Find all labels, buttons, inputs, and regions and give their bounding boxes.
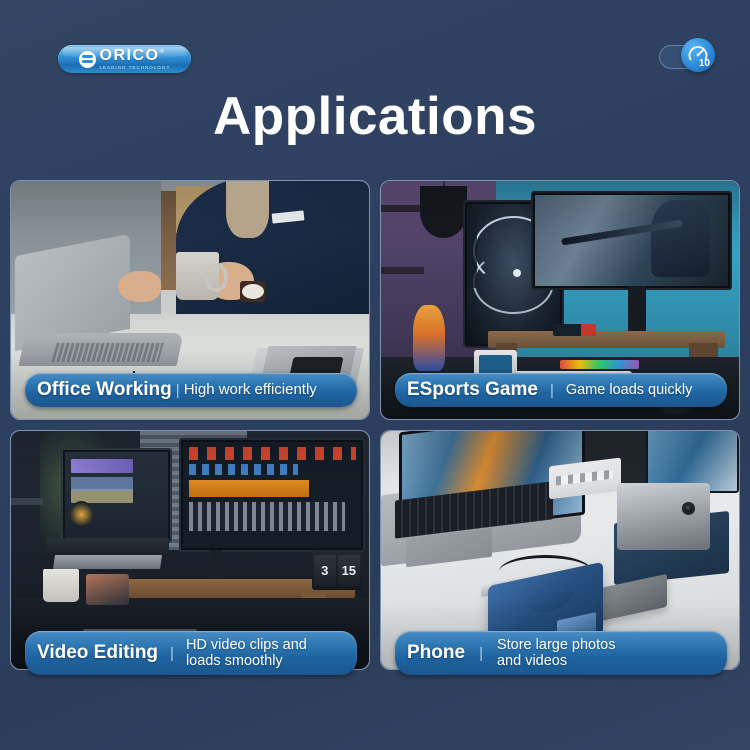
label-separator: |	[176, 382, 180, 399]
flip-clock-hours: 3	[314, 555, 336, 586]
label-separator: |	[479, 645, 483, 662]
card-description-line-2: and videos	[497, 653, 616, 669]
application-card-esports-game[interactable]: ESports Game | Game loads quickly	[380, 180, 740, 420]
card-description: Store large photos and videos	[497, 637, 616, 669]
application-card-office-working[interactable]: Office Working | High work efficiently	[10, 180, 370, 420]
card-description: High work efficiently	[184, 382, 317, 399]
card-description-line-1: HD video clips and	[186, 637, 307, 653]
card-description-line-2: loads smoothly	[186, 653, 307, 669]
card-description: Game loads quickly	[566, 382, 693, 398]
flip-clock-minutes: 15	[338, 555, 360, 586]
logo-tagline: LEADING TECHNOLOGY	[100, 66, 171, 70]
logo-text: ORICO® LEADING TECHNOLOGY	[100, 48, 171, 70]
card-title: ESports Game	[407, 379, 538, 401]
card-label-esports-game: ESports Game | Game loads quickly	[395, 373, 727, 407]
application-card-phone[interactable]: Phone | Store large photos and videos	[380, 430, 740, 670]
flip-clock: 3 15	[312, 550, 362, 590]
card-label-office-working: Office Working | High work efficiently	[25, 373, 357, 407]
orico-e-mark-icon	[79, 51, 96, 68]
speedometer-icon: 10	[681, 38, 715, 72]
card-title: Office Working	[37, 379, 172, 401]
label-separator: |	[170, 645, 174, 662]
orico-logo[interactable]: ORICO® LEADING TECHNOLOGY	[58, 45, 191, 73]
card-label-phone: Phone | Store large photos and videos	[395, 631, 727, 675]
applications-grid: Office Working | High work efficiently	[10, 180, 740, 670]
speed-badge: 10	[659, 38, 715, 74]
logo-wordmark: ORICO®	[100, 48, 164, 64]
label-separator: |	[550, 382, 554, 399]
card-title: Video Editing	[37, 642, 158, 664]
application-card-video-editing[interactable]: 3 15 Video Editing | HD video clips and …	[10, 430, 370, 670]
card-title: Phone	[407, 642, 465, 664]
registered-trademark-icon: ®	[159, 49, 163, 55]
badge-value: 10	[699, 58, 710, 69]
page-header: ORICO® LEADING TECHNOLOGY 10	[0, 0, 750, 86]
card-description: HD video clips and loads smoothly	[186, 637, 307, 669]
page-title: Applications	[0, 86, 750, 147]
card-label-video-editing: Video Editing | HD video clips and loads…	[25, 631, 357, 675]
card-description-line-1: Store large photos	[497, 637, 616, 653]
